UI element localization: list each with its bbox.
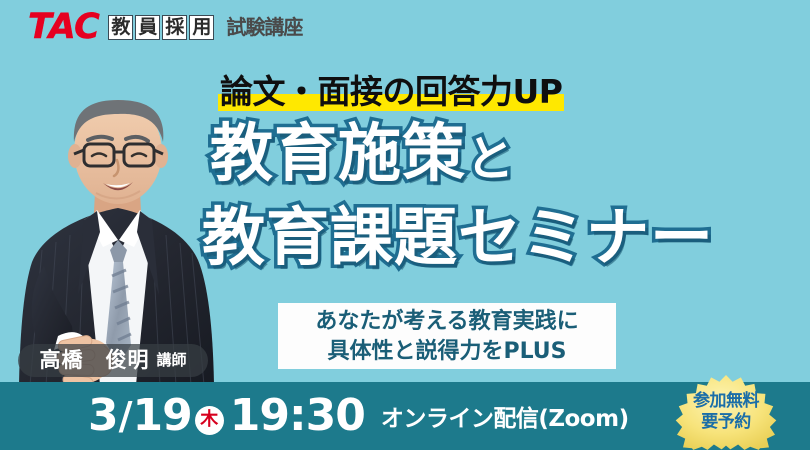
main-title-line-2: 教育課題セミナー: [202, 206, 714, 269]
kicker-text: 論文・面接の回答力UP: [218, 74, 564, 110]
schedule-content: 3 / 19 木 19:30 オンライン配信(Zoom): [88, 382, 629, 450]
boxed-char-1: 教: [108, 15, 133, 40]
seminar-banner: TAC 教 員 採 用 試験講座: [0, 0, 810, 450]
tac-logo: TAC: [28, 10, 99, 45]
badge-line-2: 要予約: [701, 413, 751, 432]
subtitle-box: あなたが考える教育実践に 具体性と説得力をPLUS: [278, 303, 616, 369]
event-day: 19: [133, 394, 192, 438]
boxed-subject-label: 教 員 採 用: [108, 15, 214, 40]
instructor-title: 講師: [156, 353, 186, 368]
subtitle-line-1: あなたが考える教育実践に: [315, 307, 578, 337]
boxed-char-2: 員: [135, 15, 160, 40]
boxed-char-4: 用: [189, 15, 214, 40]
main-title-line-1-main: 教育施策: [210, 117, 466, 190]
day-of-week-badge: 木: [195, 406, 224, 435]
subtitle-line-2: 具体性と説得力をPLUS: [327, 337, 566, 367]
instructor-name: 高橋 俊明: [39, 350, 149, 371]
main-title-line-1: 教育施策と: [210, 122, 515, 185]
delivery-method: オンライン配信(Zoom): [381, 407, 629, 431]
main-title-line-1-particle: と: [466, 131, 515, 187]
event-month: 3: [88, 394, 118, 438]
instructor-photo: [0, 80, 230, 385]
instructor-name-plate: 高橋 俊明 講師: [18, 344, 208, 377]
badge-labels: 参加無料 要予約: [670, 374, 782, 450]
badge-line-1: 参加無料: [693, 392, 759, 411]
course-type-label: 試験講座: [226, 17, 302, 37]
kicker-headline: 論文・面接の回答力UP: [218, 68, 564, 110]
brand-header: TAC 教 員 採 用 試験講座: [28, 8, 302, 46]
free-entry-badge: 参加無料 要予約: [670, 374, 782, 450]
event-time: 19:30: [230, 394, 365, 438]
date-separator: /: [119, 394, 132, 438]
boxed-char-3: 採: [162, 15, 187, 40]
